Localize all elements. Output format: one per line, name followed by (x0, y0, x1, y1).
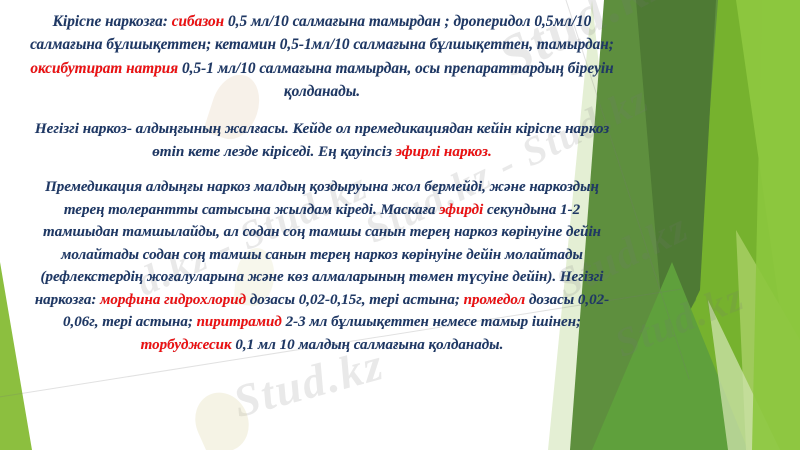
slide-body-text: Кіріспе наркозға: сибазон 0,5 мл/10 салм… (28, 10, 616, 356)
text-run: Кіріспе наркозға: (53, 13, 172, 30)
green-shape-bright-right (636, 0, 800, 450)
paragraph-premedication: Премедикация алдыңғы наркоз малдың қозды… (28, 176, 616, 356)
highlight-ether: эфирді (439, 202, 483, 218)
text-run: дозасы 0,02-0,15г, тері астына; (246, 292, 464, 308)
paragraph-intro-narcosis: Кіріспе наркозға: сибазон 0,5 мл/10 салм… (28, 10, 616, 104)
green-shape-rightmost (752, 0, 800, 450)
highlight-torbugesic: торбуджесик (141, 337, 232, 353)
highlight-promedol: промедол (464, 292, 526, 308)
watermark-leaf-icon-bottom (186, 384, 258, 450)
highlight-piritramide: пиритрамид (197, 314, 282, 330)
green-shape-light-overlay (736, 230, 800, 450)
text-run: Негізгі наркоз- алдыңғының жалғасы. Кейд… (35, 120, 609, 160)
green-shape-pale-highlight (708, 300, 780, 450)
text-run: 2-3 мл бұлшықеттен немесе тамыр ішінен; (282, 314, 581, 330)
paragraph-main-narcosis: Негізгі наркоз- алдыңғының жалғасы. Кейд… (28, 117, 616, 164)
watermark-text-bottom: Stud.kz (608, 272, 751, 366)
highlight-ether-narcosis: эфирлі наркоз. (396, 143, 492, 160)
text-run: 0,5-1 мл/10 салмағына тамырдан, осы преп… (178, 60, 613, 100)
green-shape-darkest (636, 0, 716, 360)
highlight-oxybutyrate: оксибутират натрия (30, 60, 178, 77)
presentation-slide: Stud.kz Stud.kz - Stud.kz d.kz - Stud.kz… (0, 0, 800, 450)
highlight-morphine-hydrochloride: морфина гидрохлорид (100, 292, 246, 308)
text-run: 0,1 мл 10 малдың салмағына қолданады. (232, 337, 504, 353)
highlight-sibazon: сибазон (172, 13, 225, 30)
green-shape-bright (658, 0, 800, 450)
